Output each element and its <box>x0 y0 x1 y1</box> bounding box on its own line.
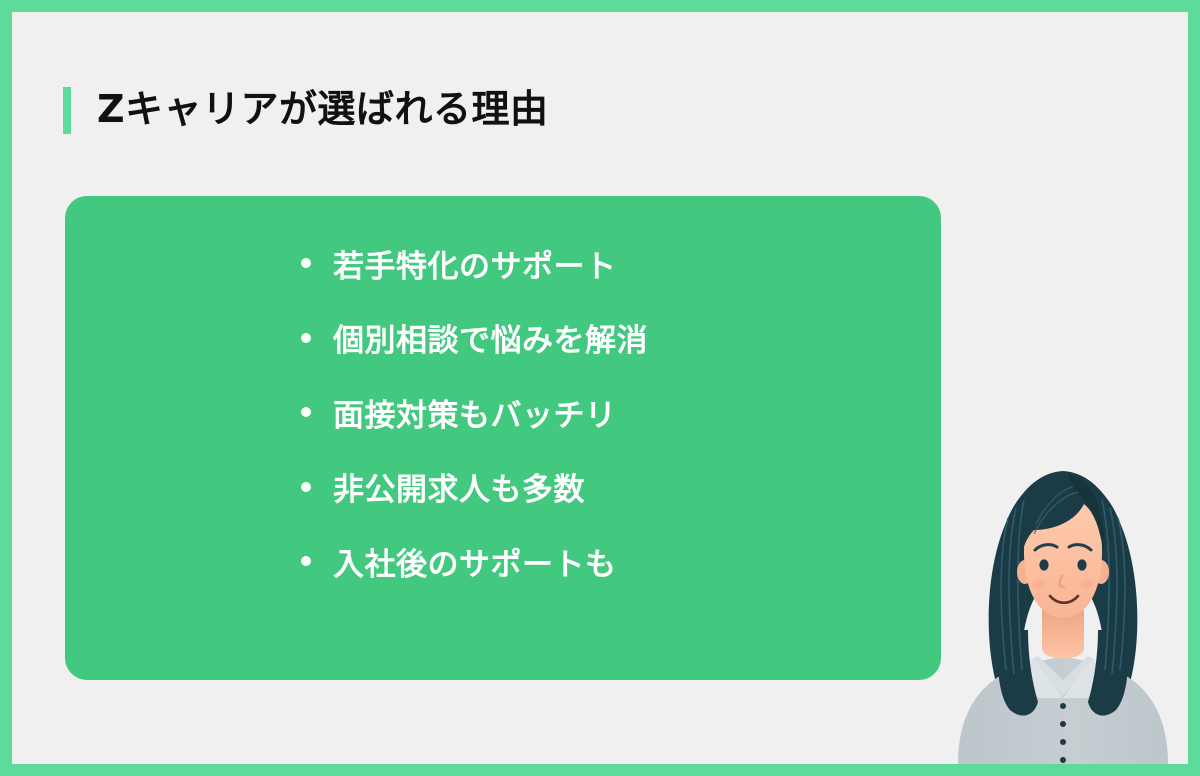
list-item-label: 入社後のサポートも <box>333 539 617 584</box>
woman-figure <box>958 471 1168 764</box>
neck-shape <box>1042 610 1084 659</box>
hair-front-group <box>998 486 1129 716</box>
list-item: 面接対策もバッチリ <box>301 375 648 450</box>
eye-right <box>1077 559 1086 570</box>
list-item: 入社後のサポートも <box>301 524 648 599</box>
cheek-left <box>1032 580 1046 589</box>
bullet-dot-icon <box>301 258 311 268</box>
list-item-label: 若手特化のサポート <box>333 241 617 286</box>
ear-left <box>1017 560 1033 584</box>
bullet-dot-icon <box>301 407 311 417</box>
eyebrow-left <box>1035 545 1057 550</box>
cheek-right <box>1080 580 1094 589</box>
hair-back-group <box>989 471 1138 712</box>
woman-illustration <box>938 434 1188 764</box>
nose-shape <box>1060 576 1064 587</box>
slide-frame: Zキャリアが選ばれる理由 若手特化のサポート 個別相談で悩みを解消 面接対策もバ… <box>0 0 1200 776</box>
bullet-dot-icon <box>301 482 311 492</box>
list-item-label: 面接対策もバッチリ <box>333 390 617 435</box>
page-title: Zキャリアが選ばれる理由 <box>63 75 549 145</box>
eyebrow-right <box>1069 545 1091 550</box>
list-item: 非公開求人も多数 <box>301 450 648 525</box>
collar-shape <box>1030 656 1096 696</box>
list-item-label: 個別相談で悩みを解消 <box>333 315 648 360</box>
heading-accent-bar <box>63 87 71 134</box>
ear-right <box>1093 560 1109 584</box>
eye-left <box>1039 559 1048 570</box>
bullet-dot-icon <box>301 556 311 566</box>
bullet-dot-icon <box>301 333 311 343</box>
heading-title-text: Zキャリアが選ばれる理由 <box>97 89 549 131</box>
list-item-label: 非公開求人も多数 <box>333 464 585 509</box>
hair-fringe-group <box>1021 472 1105 554</box>
slide-canvas: Zキャリアが選ばれる理由 若手特化のサポート 個別相談で悩みを解消 面接対策もバ… <box>12 12 1188 764</box>
feature-bullet-list: 若手特化のサポート 個別相談で悩みを解消 面接対策もバッチリ 非公開求人も多数 … <box>301 226 648 599</box>
face-shape <box>1024 488 1102 618</box>
list-item: 個別相談で悩みを解消 <box>301 301 648 376</box>
list-item: 若手特化のサポート <box>301 226 648 301</box>
blouse-group <box>958 656 1168 764</box>
features-card: 若手特化のサポート 個別相談で悩みを解消 面接対策もバッチリ 非公開求人も多数 … <box>65 196 941 680</box>
mouth-smile <box>1050 596 1078 603</box>
blouse-buttons <box>1060 703 1066 763</box>
